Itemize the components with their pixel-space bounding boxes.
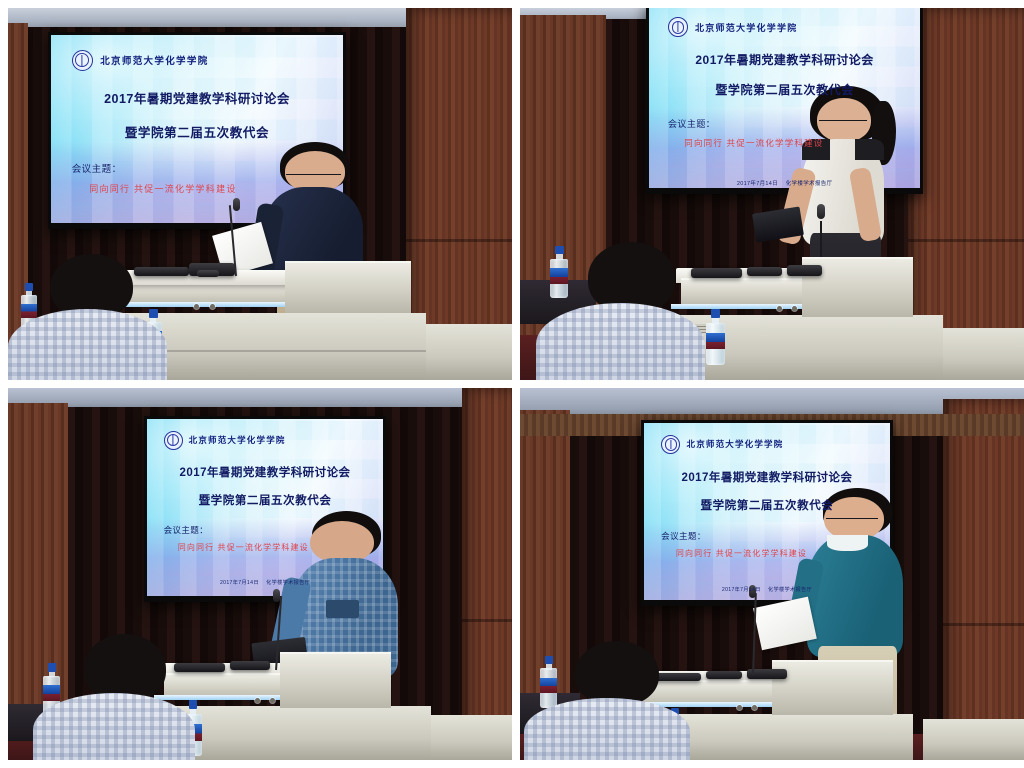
slide-logo-row: 北京师范大学化学学院: [668, 17, 901, 37]
slide-footer: 2017年7月14日 化学楼学术报告厅: [737, 179, 833, 187]
slide-logo-row: 北京师范大学化学学院: [661, 435, 873, 454]
slide-title: 2017年暑期党建教学科研讨论会: [104, 88, 290, 107]
slide-logo-row: 北京师范大学化学学院: [164, 431, 367, 450]
slide-content: 北京师范大学化学学院 2017年暑期党建教学科研讨论会 暨学院第二届五次教代会 …: [644, 423, 890, 600]
slide-footer: 2017年7月14日 化学楼学术报告厅: [220, 579, 310, 586]
slide-footer-date: 2017年7月14日: [737, 179, 778, 187]
slide-subtitle: 暨学院第二届五次教代会: [125, 122, 269, 141]
desk-far-right: [426, 324, 512, 380]
podium-knob-2[interactable]: [270, 698, 275, 703]
podium-knob-2[interactable]: [752, 705, 757, 710]
slide-title: 2017年暑期党建教学科研讨论会: [695, 51, 873, 68]
slide-logo-text: 北京师范大学化学学院: [100, 53, 208, 67]
slide-theme-label: 会议主题：: [72, 161, 122, 175]
slide-theme-label: 会议主题：: [661, 530, 706, 542]
bnu-seal-logo: [668, 17, 688, 37]
audience-shoulders: [33, 693, 195, 760]
desk-device-center[interactable]: [230, 661, 270, 670]
slide-footer-venue: 化学楼学术报告厅: [786, 179, 833, 187]
slide-content: 北京师范大学化学学院 2017年暑期党建教学科研讨论会 暨学院第二届五次教代会 …: [147, 419, 383, 596]
slide-footer: 2017年7月14日 化学楼学术报告厅: [722, 586, 812, 593]
podium-right-block: [280, 652, 391, 708]
slide-content: 北京师范大学化学学院 2017年暑期党建教学科研讨论会 暨学院第二届五次教代会 …: [51, 35, 342, 223]
slide-content: 北京师范大学化学学院 2017年暑期党建教学科研讨论会 暨学院第二届五次教代会 …: [649, 8, 920, 188]
handheld-microphone[interactable]: [817, 204, 825, 219]
slide-theme-value: 同向同行 共促一流化学学科建设: [89, 182, 236, 195]
desk-device-center[interactable]: [747, 267, 782, 277]
desk-far-right: [431, 715, 512, 760]
wood-wall-right: [462, 388, 512, 760]
slide-title: 2017年暑期党建教学科研讨论会: [681, 469, 852, 485]
desk-device-center[interactable]: [706, 671, 741, 679]
photo-panel-top-left: 北京师范大学化学学院 2017年暑期党建教学科研讨论会 暨学院第二届五次教代会 …: [8, 8, 512, 380]
slide-footer-venue: 化学楼学术报告厅: [266, 579, 310, 586]
slide-logo-text: 北京师范大学化学学院: [695, 21, 798, 34]
projection-screen: 北京师范大学化学学院 2017年暑期党建教学科研讨论会 暨学院第二届五次教代会 …: [641, 420, 893, 606]
audience-head: [575, 641, 658, 706]
audience-shoulders: [8, 309, 167, 380]
audience-member-foreground: [545, 641, 696, 760]
desk-far-right: [923, 719, 1024, 760]
slide-theme-value: 同向同行 共促一流化学学科建设: [684, 137, 823, 149]
slide-theme-value: 同向同行 共促一流化学学科建设: [676, 548, 807, 559]
audience-member-foreground: [58, 634, 199, 760]
slide-theme-label: 会议主题：: [668, 117, 715, 130]
podium-knob-1[interactable]: [737, 705, 742, 710]
slide-theme-value: 同向同行 共促一流化学学科建设: [178, 542, 309, 553]
photo-panel-bottom-right: 北京师范大学化学学院 2017年暑期党建教学科研讨论会 暨学院第二届五次教代会 …: [520, 388, 1024, 760]
photo-collage: 北京师范大学化学学院 2017年暑期党建教学科研讨论会 暨学院第二届五次教代会 …: [0, 0, 1024, 768]
bnu-seal-logo: [72, 50, 93, 71]
slide-logo-text: 北京师范大学化学学院: [189, 434, 286, 446]
photo-panel-top-right: 北京师范大学化学学院 2017年暑期党建教学科研讨论会 暨学院第二届五次教代会 …: [520, 8, 1024, 380]
wood-wall-right: [943, 399, 1024, 760]
shirt-pocket: [326, 600, 359, 617]
projection-screen: 北京师范大学化学学院 2017年暑期党建教学科研讨论会 暨学院第二届五次教代会 …: [48, 32, 345, 229]
microphone-base: [197, 270, 219, 277]
slide-footer-venue: 化学楼学术报告厅: [768, 586, 812, 593]
podium-knob-2[interactable]: [210, 304, 215, 309]
slide-subtitle: 暨学院第二届五次教代会: [701, 497, 834, 513]
slide-logo-row: 北京师范大学化学学院: [72, 50, 323, 71]
bnu-seal-logo: [164, 431, 183, 450]
slide-subtitle: 暨学院第二届五次教代会: [199, 492, 332, 508]
audience-shoulders: [536, 303, 705, 380]
podium-right-block: [285, 261, 411, 313]
audience-member-foreground: [23, 254, 174, 380]
slide-logo-text: 北京师范大学化学学院: [687, 438, 784, 450]
podium-right-block: [772, 660, 893, 716]
desk-device-right[interactable]: [787, 265, 822, 276]
projection-screen: 北京师范大学化学学院 2017年暑期党建教学科研讨论会 暨学院第二届五次教代会 …: [646, 8, 923, 194]
desk-far-right: [943, 328, 1024, 380]
audience-member-foreground: [560, 242, 711, 380]
bnu-seal-logo: [661, 435, 680, 454]
slide-title: 2017年暑期党建教学科研讨论会: [180, 464, 351, 480]
slide-theme-label: 会议主题：: [164, 524, 209, 536]
slide-footer-date: 2017年7月14日: [722, 586, 761, 593]
podium-knob-1[interactable]: [255, 698, 260, 703]
slide-footer-date: 2017年7月14日: [220, 579, 259, 586]
projection-screen: 北京师范大学化学学院 2017年暑期党建教学科研讨论会 暨学院第二届五次教代会 …: [144, 416, 386, 602]
photo-panel-bottom-left: 北京师范大学化学学院 2017年暑期党建教学科研讨论会 暨学院第二届五次教代会 …: [8, 388, 512, 760]
slide-subtitle: 暨学院第二届五次教代会: [715, 81, 854, 98]
audience-shoulders: [524, 698, 690, 760]
